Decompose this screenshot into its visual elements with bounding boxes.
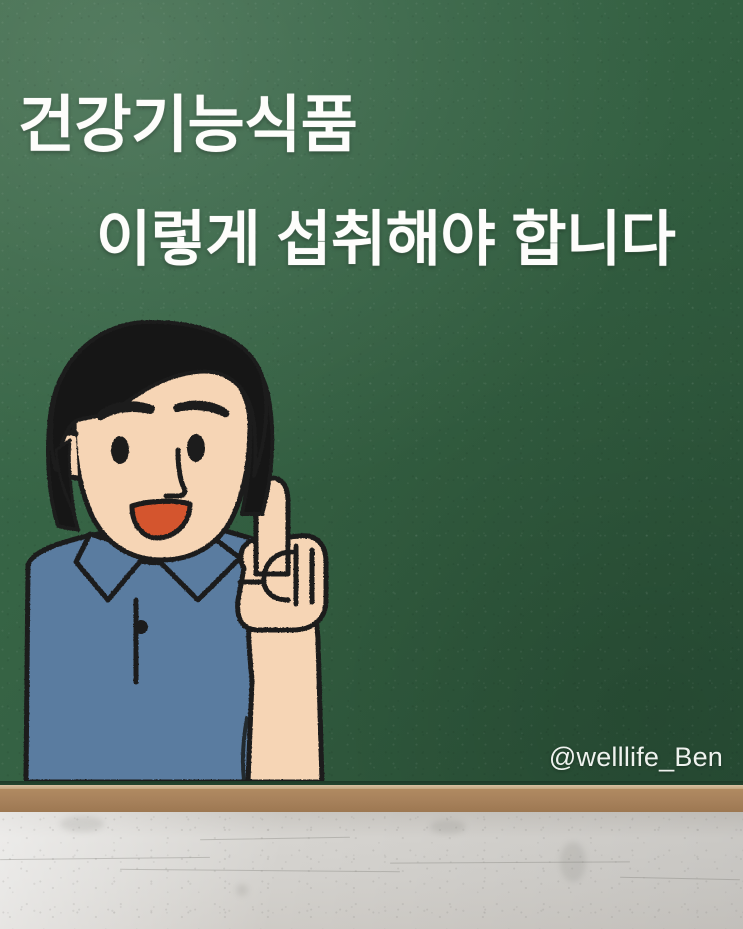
- headline-line-1: 건강기능식품: [18, 93, 357, 158]
- chalkboard-poster: 건강기능식품 이렇게 섭취해야 합니다 @welllife_Ben: [0, 0, 743, 929]
- left-eye: [111, 436, 129, 464]
- chalkboard-ledge: [0, 781, 743, 815]
- headline-line-2: 이렇게 섭취해야 합니다: [96, 208, 675, 271]
- right-eye: [187, 434, 205, 462]
- wall-scratch: [390, 861, 630, 863]
- wall-scratch: [200, 837, 350, 841]
- wall-scratch: [0, 857, 210, 860]
- concrete-wall: [0, 812, 743, 929]
- wall-blotch: [560, 842, 586, 882]
- shirt-button: [134, 620, 148, 634]
- wall-scratch: [620, 877, 740, 881]
- pointing-man-illustration: [0, 300, 400, 781]
- wall-scratch: [120, 869, 400, 872]
- wall-blotch: [236, 884, 248, 896]
- wall-blotch: [60, 816, 104, 832]
- chalkboard-surface: 건강기능식품 이렇게 섭취해야 합니다 @welllife_Ben: [0, 0, 743, 781]
- ledge-body: [0, 789, 743, 812]
- watermark-handle: @welllife_Ben: [549, 742, 723, 773]
- wall-blotch: [430, 820, 466, 834]
